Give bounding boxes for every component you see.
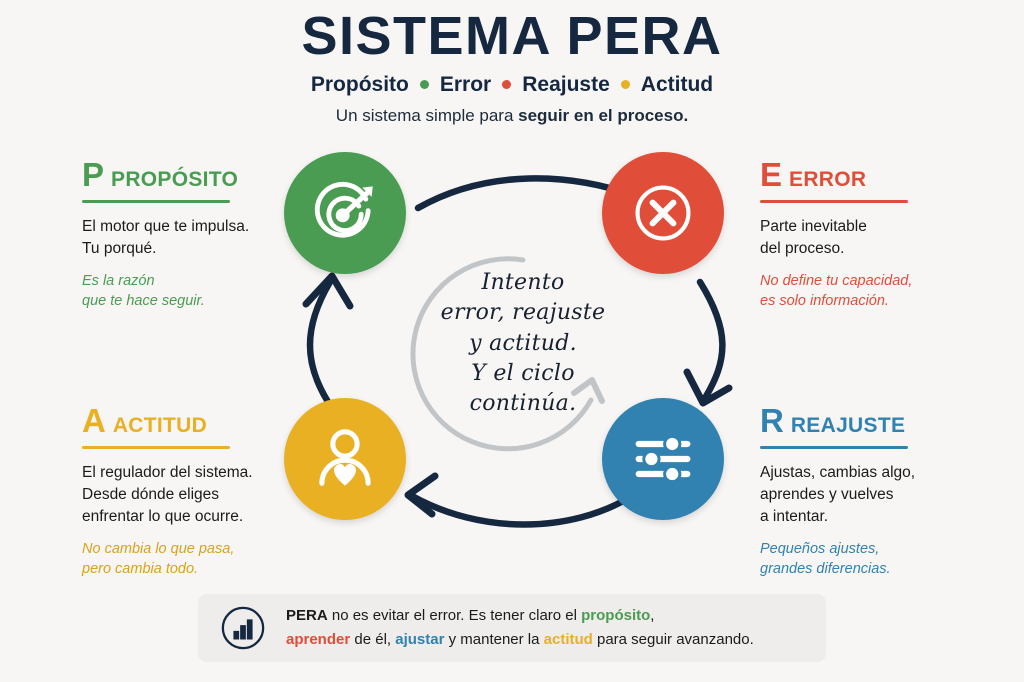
quadrant-attitude-rule [82, 446, 230, 449]
banner-l2-p1: de él, [350, 631, 395, 648]
arrowhead-adjust-to-attitude [408, 476, 435, 514]
arrow-attitude-to-purpose [310, 282, 332, 408]
arrowhead-attitude-to-purpose [306, 276, 350, 306]
acronym-word-purpose: Propósito [311, 73, 409, 97]
legend-dot-green [420, 80, 429, 89]
node-error[interactable] [602, 152, 724, 274]
sliders-icon [626, 422, 700, 496]
legend-dot-yellow [621, 80, 630, 89]
target-arrow-icon [308, 176, 382, 250]
bar-chart-circle-icon [220, 605, 266, 651]
quadrant-attitude-word: ACTITUD [113, 415, 207, 436]
header: SISTEMA PERA Propósito Error Reajuste Ac… [0, 8, 1024, 126]
tagline-bold: seguir en el proceso. [518, 106, 688, 125]
center-line: error, reajuste [418, 298, 628, 328]
quadrant-purpose-word: PROPÓSITO [111, 169, 238, 190]
banner-l2-p3: para seguir avanzando. [593, 631, 754, 648]
center-message: Intento error, reajuste y actitud. Y el … [418, 268, 628, 420]
acronym-legend: Propósito Error Reajuste Actitud [0, 73, 1024, 97]
banner-pera-bold: PERA [286, 607, 328, 624]
node-adjust[interactable] [602, 398, 724, 520]
banner-l1-end: , [650, 607, 654, 624]
quadrant-attitude-letter: A [82, 404, 106, 437]
quadrant-error-word: ERROR [789, 169, 866, 190]
center-line: y actitud. [418, 329, 628, 359]
infographic-canvas: SISTEMA PERA Propósito Error Reajuste Ac… [0, 0, 1024, 682]
summary-banner-text: PERA no es evitar el error. Es tener cla… [286, 604, 754, 653]
quadrant-purpose-letter: P [82, 158, 104, 191]
acronym-word-adjust: Reajuste [522, 73, 610, 97]
quadrant-purpose-rule [82, 200, 230, 203]
banner-purpose-word: propósito [581, 607, 650, 624]
banner-l1-plain: no es evitar el error. Es tener claro el [328, 607, 581, 624]
node-purpose[interactable] [284, 152, 406, 274]
quadrant-adjust-word: REAJUSTE [791, 415, 905, 436]
cycle-diagram: Intento error, reajuste y actitud. Y el … [240, 140, 800, 570]
acronym-word-error: Error [440, 73, 491, 97]
tagline: Un sistema simple para seguir en el proc… [0, 106, 1024, 126]
banner-l2-p2: y mantener la [444, 631, 543, 648]
banner-adjust-word: ajustar [395, 631, 444, 648]
arrow-error-to-adjust [700, 282, 722, 398]
arrowhead-error-to-adjust [687, 372, 729, 403]
circle-x-icon [626, 176, 700, 250]
banner-attitude-word: actitud [544, 631, 593, 648]
tagline-plain: Un sistema simple para [336, 106, 518, 125]
center-line: Intento [418, 268, 628, 298]
summary-banner: PERA no es evitar el error. Es tener cla… [198, 594, 826, 662]
banner-learn-word: aprender [286, 631, 350, 648]
center-line: Y el ciclo [418, 359, 628, 389]
node-attitude[interactable] [284, 398, 406, 520]
summary-line-1: PERA no es evitar el error. Es tener cla… [286, 604, 754, 628]
legend-dot-red [502, 80, 511, 89]
person-heart-icon [308, 422, 382, 496]
arrow-adjust-to-attitude [412, 496, 632, 525]
page-title: SISTEMA PERA [0, 8, 1024, 65]
summary-line-2: aprender de él, ajustar y mantener la ac… [286, 628, 754, 652]
acronym-word-attitude: Actitud [641, 73, 713, 97]
center-line: continúa. [418, 389, 628, 419]
